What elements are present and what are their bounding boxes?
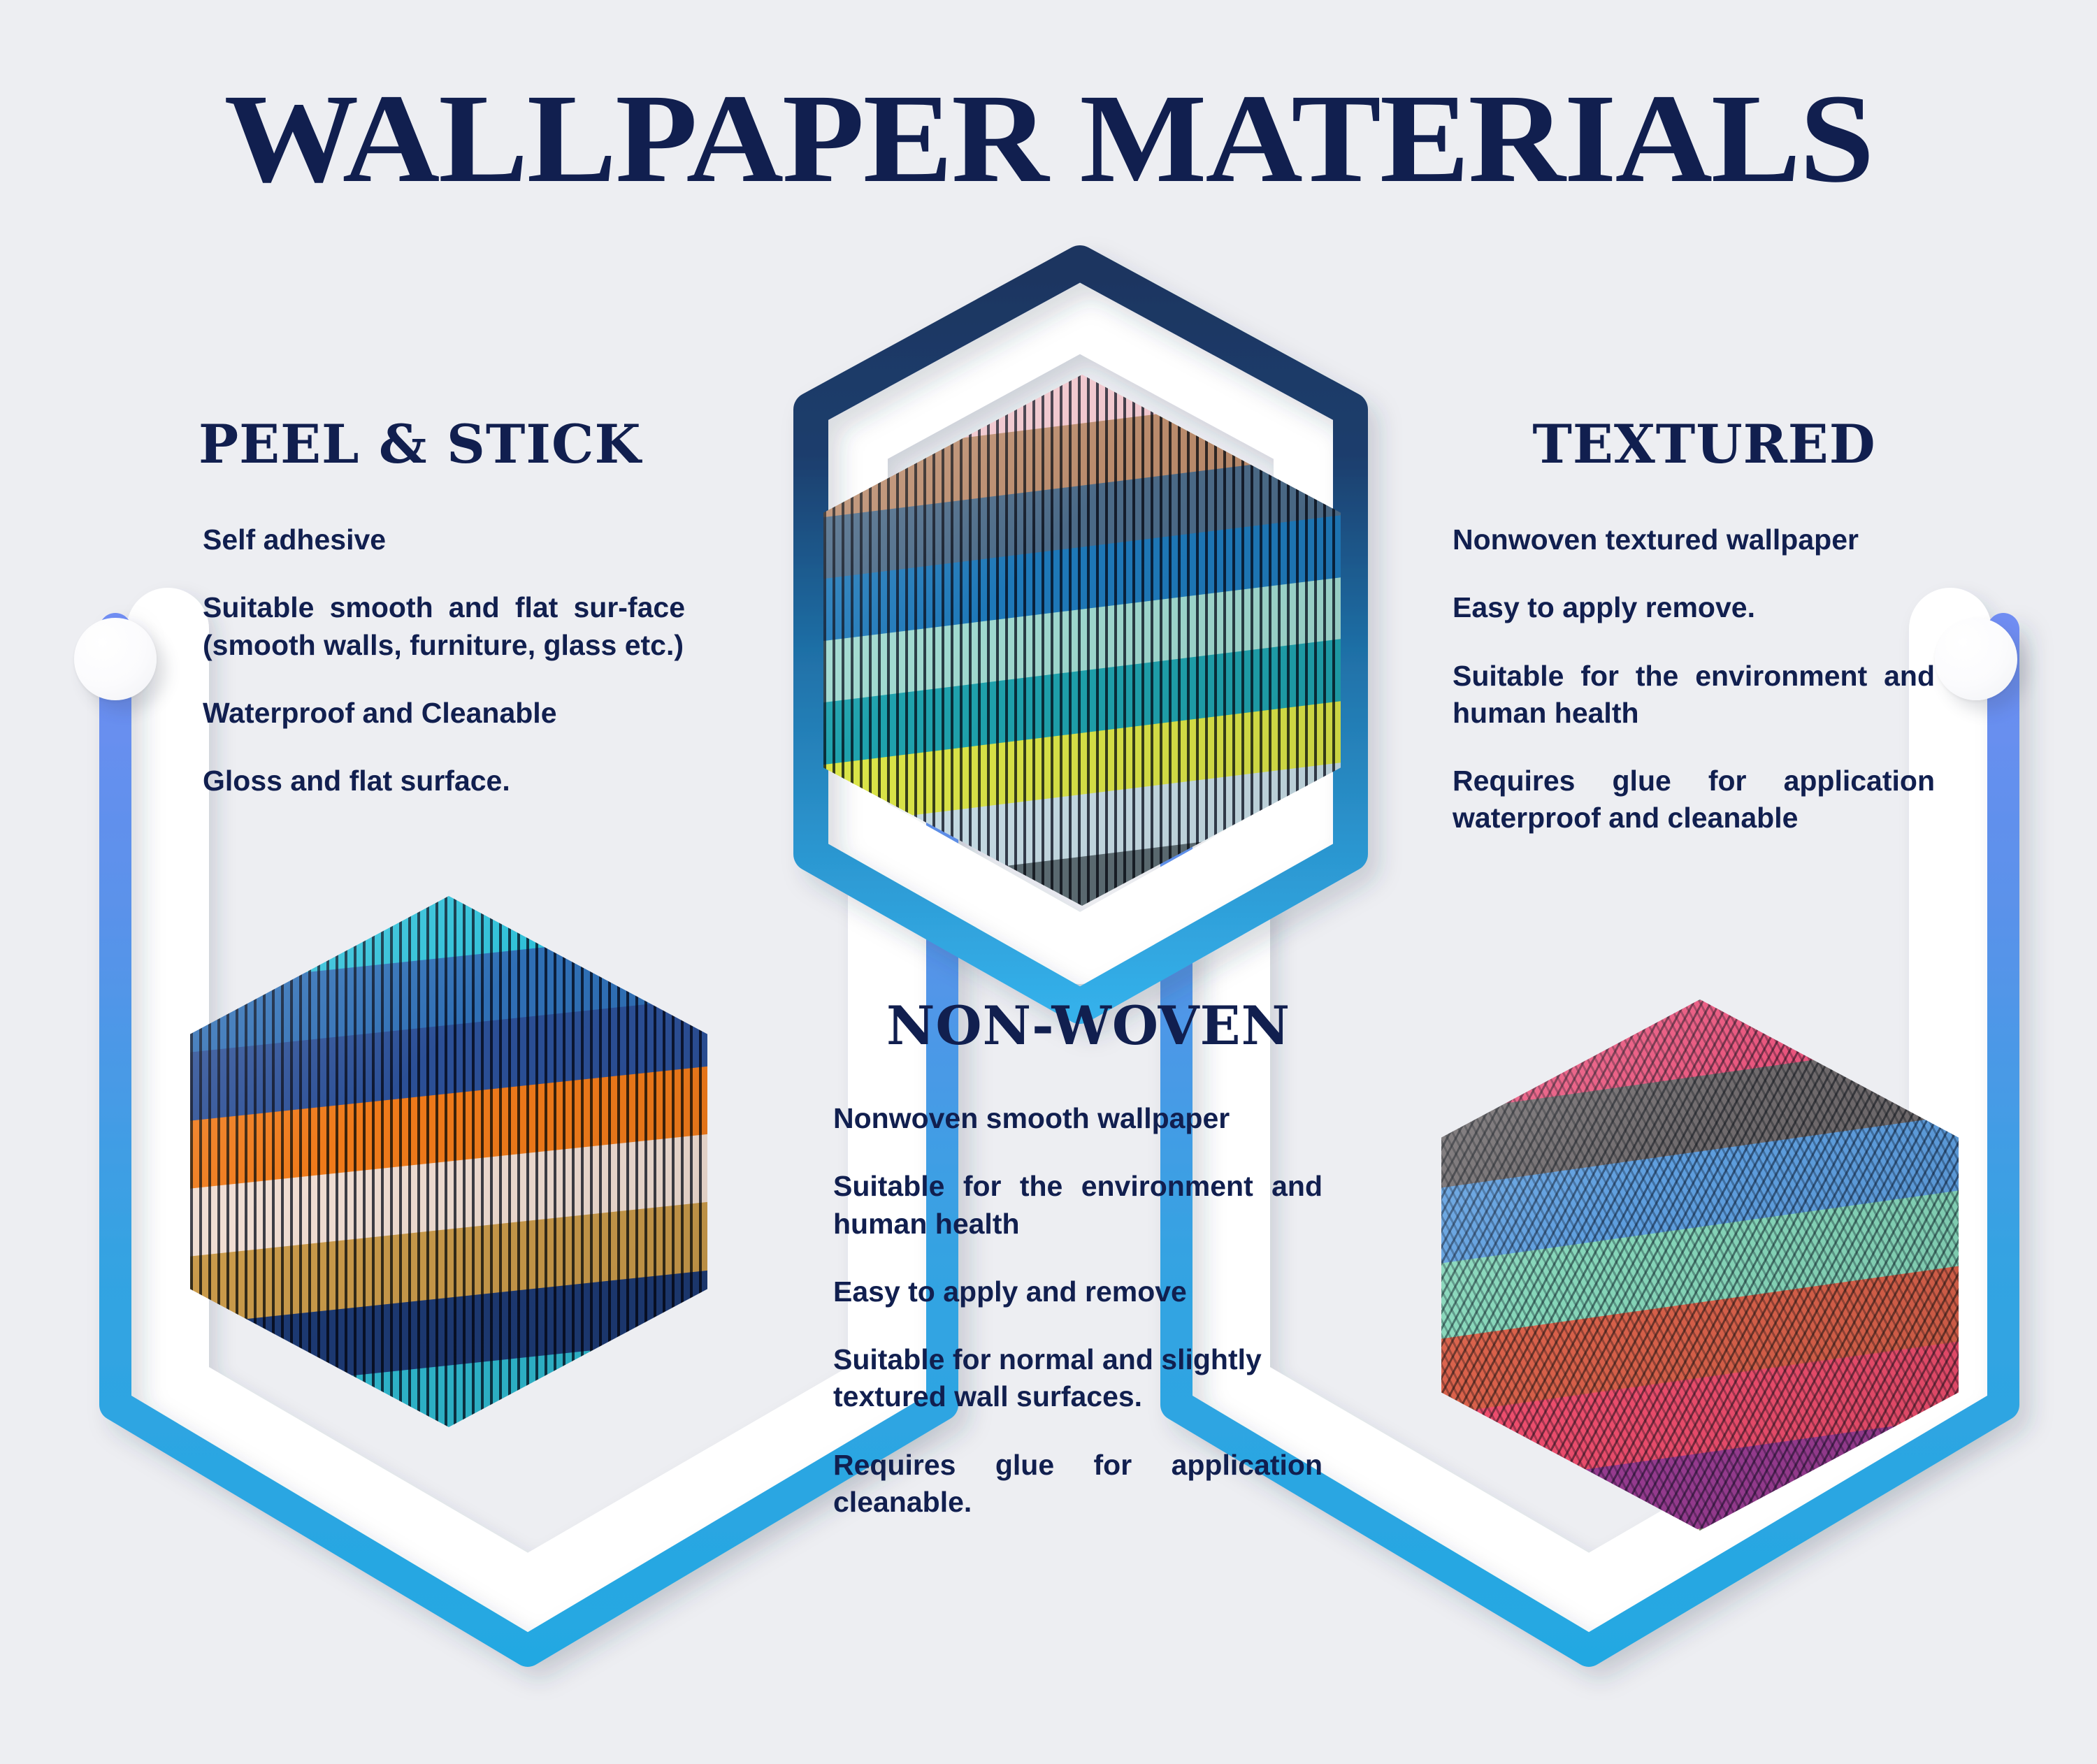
bullet-item: Nonwoven smooth wallpaper [833, 1100, 1323, 1137]
heading-peel-and-stick: PEEL & STICK [199, 418, 597, 471]
column-peel-and-stick: PEEL & STICK Self adhesive Suitable smoo… [203, 418, 692, 800]
bullet-item: Waterproof and Cleanable [203, 695, 685, 732]
textured-swatch [1441, 999, 1959, 1531]
bullet-item: Suitable smooth and flat sur-face (smoot… [203, 589, 685, 664]
peel-and-stick-swatch [190, 896, 707, 1427]
bullet-item: Nonwoven textured wallpaper [1453, 521, 1935, 558]
infographic-canvas: WALLPAPER MATERIALS [0, 0, 2097, 1764]
heading-textured: TEXTURED [1453, 418, 1956, 471]
bullet-item: Suitable for normal and slightly texture… [833, 1341, 1323, 1416]
non-woven-swatch [823, 375, 1341, 906]
bullets-non-woven: Nonwoven smooth wallpaper Suitable for t… [833, 1100, 1323, 1521]
left-rail-cap [74, 618, 157, 700]
bullet-item: Requires glue for application waterproof… [1453, 762, 1935, 837]
bullet-item: Easy to apply and remove [833, 1273, 1323, 1310]
bullets-textured: Nonwoven textured wallpaper Easy to appl… [1453, 521, 1935, 837]
bullet-item: Self adhesive [203, 521, 685, 558]
bullet-item: Requires glue for application cleanable. [833, 1447, 1323, 1521]
column-textured: TEXTURED Nonwoven textured wallpaper Eas… [1453, 418, 1956, 837]
bullet-item: Easy to apply remove. [1453, 589, 1935, 626]
bullet-item: Suitable for the environment and human h… [1453, 658, 1935, 732]
bullet-item: Suitable for the environment and human h… [833, 1168, 1323, 1243]
heading-non-woven: NON-WOVEN [833, 999, 1343, 1053]
column-non-woven: NON-WOVEN Nonwoven smooth wallpaper Suit… [833, 999, 1343, 1521]
bullet-item: Gloss and flat surface. [203, 762, 685, 800]
bullets-peel-and-stick: Self adhesive Suitable smooth and flat s… [203, 521, 685, 800]
